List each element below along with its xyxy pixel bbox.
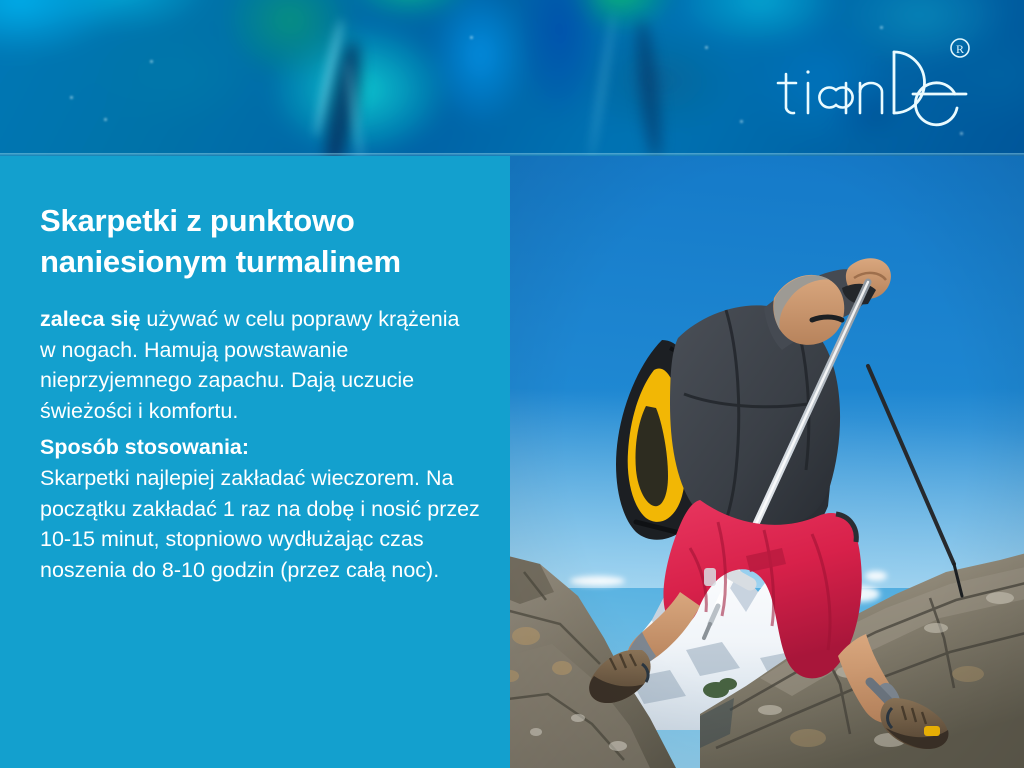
- usage-heading: Sposób stosowania:: [40, 432, 480, 463]
- paragraph-usage: Skarpetki najlepiej zakładać wieczorem. …: [40, 463, 480, 585]
- paragraph-bold-lead: zaleca się: [40, 307, 140, 331]
- text-panel: Skarpetki z punktowo naniesionym turmali…: [0, 156, 510, 768]
- texture-speck: [960, 132, 963, 135]
- texture-speck: [880, 26, 883, 29]
- texture-speck: [705, 46, 708, 49]
- svg-text:R: R: [956, 42, 964, 56]
- page-title: Skarpetki z punktowo naniesionym turmali…: [40, 200, 470, 282]
- slide: R Skarpetki z punktowo naniesionym turma…: [0, 0, 1024, 768]
- tiande-logo[interactable]: R: [770, 30, 990, 130]
- texture-speck: [150, 60, 153, 63]
- texture-speck: [470, 36, 473, 39]
- banner: R: [0, 0, 1024, 156]
- leg-rear: [589, 592, 700, 703]
- head: [773, 275, 844, 345]
- texture-speck: [104, 118, 107, 121]
- hiker-photo: [510, 156, 1024, 768]
- paragraph-recommendation: zaleca się używać w celu poprawy krążeni…: [40, 304, 480, 426]
- texture-speck: [740, 120, 743, 123]
- registered-mark-icon: R: [951, 39, 969, 57]
- shorts: [663, 500, 861, 678]
- trekking-pole-rear: [868, 366, 954, 564]
- texture-speck: [70, 96, 73, 99]
- hiker-figure: [550, 170, 1010, 730]
